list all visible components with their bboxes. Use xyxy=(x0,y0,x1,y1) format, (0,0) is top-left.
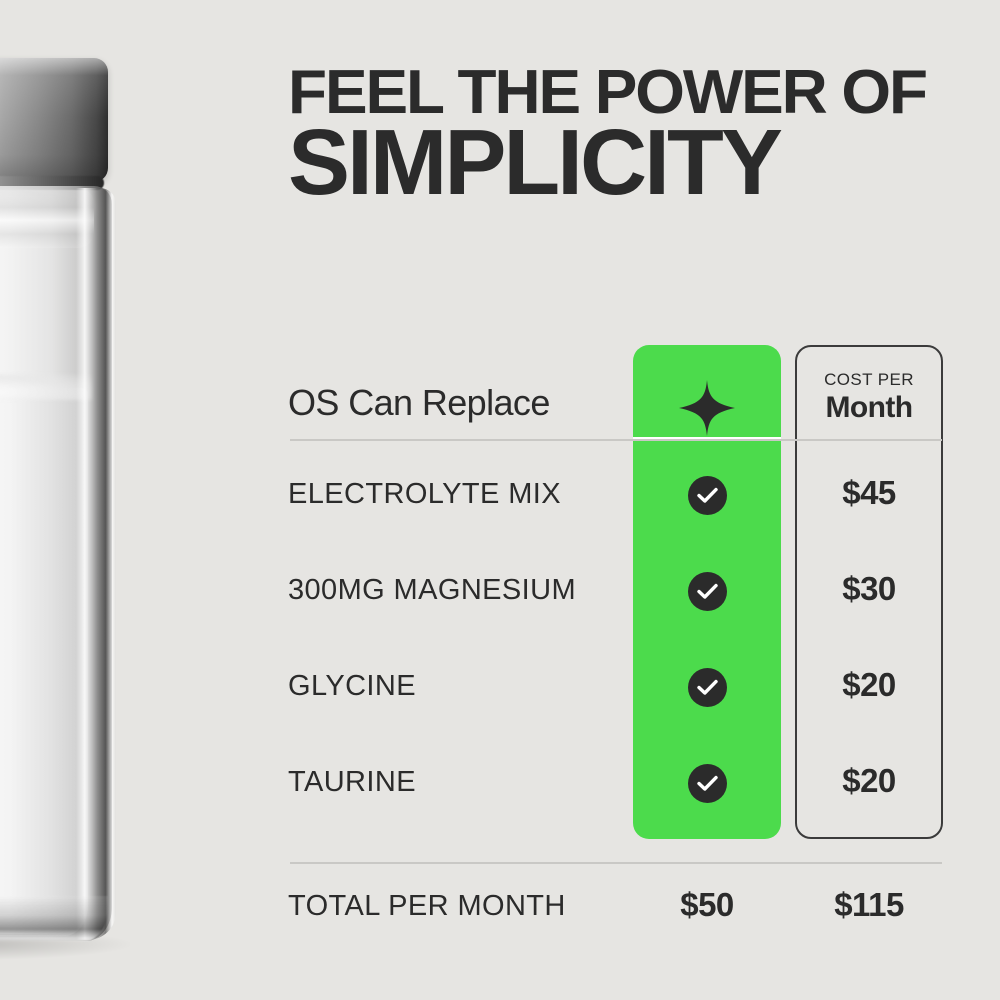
table-row: ELECTROLYTE MIX $45 xyxy=(288,450,944,546)
product-photo xyxy=(0,58,250,948)
check-icon xyxy=(688,668,727,707)
cost-header-title: Month xyxy=(795,391,943,425)
row-price: $20 xyxy=(795,666,943,704)
check-icon xyxy=(688,476,727,515)
total-alternatives-price: $115 xyxy=(795,886,943,924)
headline-line-2: Simplicity xyxy=(288,123,960,203)
headline: Feel the power of Simplicity xyxy=(288,66,960,203)
row-price: $20 xyxy=(795,762,943,800)
comparison-table: OS Can Replace COST PER Month ELECTROLYT… xyxy=(288,338,944,918)
table-row: GLYCINE $20 xyxy=(288,642,944,738)
row-label: 300MG MAGNESIUM xyxy=(288,574,576,607)
row-price: $30 xyxy=(795,570,943,608)
jar-shadow xyxy=(0,934,130,960)
sparkle-icon xyxy=(677,378,737,438)
row-price: $45 xyxy=(795,474,943,512)
cost-header-eyebrow: COST PER xyxy=(795,370,943,390)
jar-glass-wall xyxy=(76,188,116,940)
check-icon xyxy=(688,572,727,611)
bottle-cap xyxy=(0,58,108,182)
header-divider xyxy=(290,439,942,441)
cost-column-header: COST PER Month xyxy=(795,370,943,425)
check-icon xyxy=(688,764,727,803)
powder-fill xyxy=(0,388,88,936)
row-label: GLYCINE xyxy=(288,670,416,703)
total-label: TOTAL PER MONTH xyxy=(288,890,566,923)
promo-graphic: Feel the power of Simplicity OS Can Repl… xyxy=(0,0,1000,1000)
table-header-label: OS Can Replace xyxy=(288,382,550,424)
row-label: ELECTROLYTE MIX xyxy=(288,478,561,511)
table-row: TAURINE $20 xyxy=(288,738,944,834)
total-divider xyxy=(290,862,942,864)
total-os-price: $50 xyxy=(633,886,781,924)
row-label: TAURINE xyxy=(288,766,416,799)
table-row: 300MG MAGNESIUM $30 xyxy=(288,546,944,642)
